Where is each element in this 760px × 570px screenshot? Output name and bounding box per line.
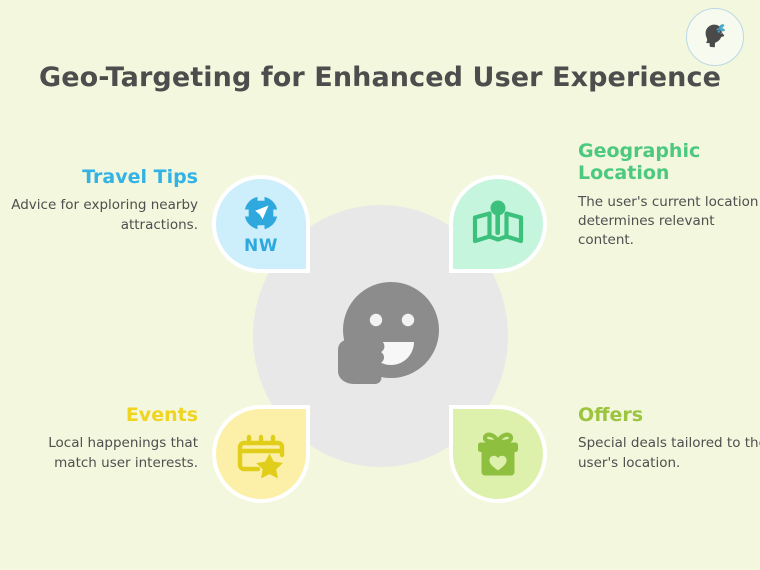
block-travel-tips: Travel Tips Advice for exploring nearby … [8,166,198,235]
block-offers: Offers Special deals tailored to the use… [578,404,760,473]
compass-direction-label: NW [244,236,278,256]
petal-offers[interactable] [449,405,547,503]
petal-events[interactable] [212,405,310,503]
block-offers-body: Special deals tailored to the user's loc… [578,434,760,472]
block-geographic-location-heading: Geographic Location [578,140,760,185]
petal-geographic-location[interactable] [449,175,547,273]
block-geographic-location: Geographic Location The user's current l… [578,140,760,250]
gift-box-heart-icon [472,429,524,479]
petal-travel-tips[interactable]: NW [212,175,310,273]
map-with-location-pin-icon [471,199,525,249]
brand-logo [686,8,744,66]
block-travel-tips-body: Advice for exploring nearby attractions. [8,196,198,234]
block-travel-tips-heading: Travel Tips [8,166,198,188]
block-geographic-location-body: The user's current location determines r… [578,193,760,250]
block-offers-heading: Offers [578,404,760,426]
woman-profile-butterfly-icon [697,19,733,55]
block-events-body: Local happenings that match user interes… [8,434,198,472]
compass-navigation-icon [241,193,281,233]
infographic-canvas: Geo-Targeting for Enhanced User Experien… [0,0,760,570]
thumbs-up-smiley-icon [318,272,448,400]
calendar-star-icon [235,429,287,479]
block-events: Events Local happenings that match user … [8,404,198,473]
page-title: Geo-Targeting for Enhanced User Experien… [0,62,760,93]
block-events-heading: Events [8,404,198,426]
